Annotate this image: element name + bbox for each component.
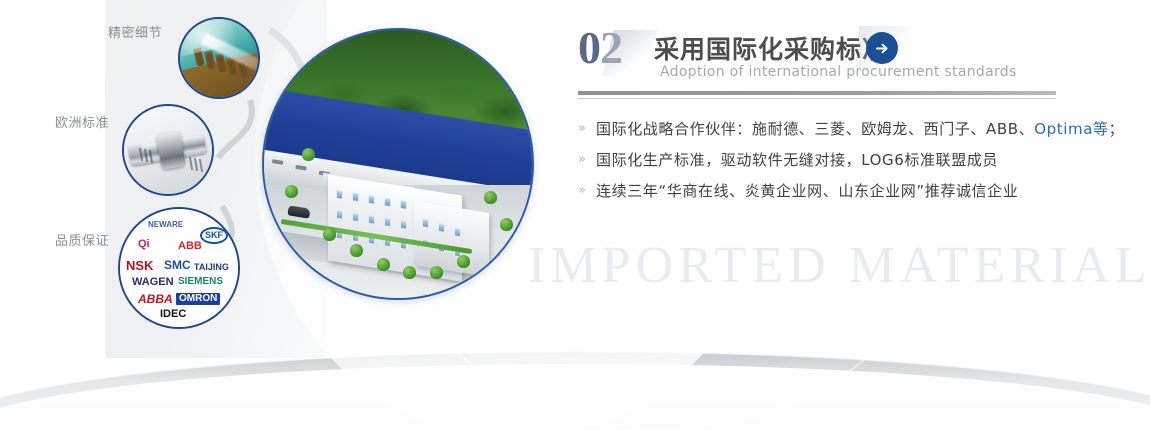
brand-logo-qi: Qi bbox=[138, 239, 150, 250]
section-header: 02 采用国际化采购标准 Adoption of international p… bbox=[578, 24, 1098, 88]
imported-material-watermark: IMPORTED MATERIAL bbox=[528, 236, 1150, 295]
bullet-text: 连续三年“华商在线、炎黄企业网、山东企业网”推荐诚信企业 bbox=[596, 181, 1018, 201]
brand-logo-abb: ABB bbox=[178, 241, 202, 252]
bullet-text-main: 连续三年“华商在线、炎黄企业网、山东企业网”推荐诚信企业 bbox=[596, 182, 1018, 200]
tree bbox=[430, 266, 443, 279]
tree bbox=[377, 258, 390, 271]
swoosh-shape-inner bbox=[0, 364, 1150, 430]
section-divider bbox=[578, 91, 1056, 99]
bullet-text-main: 国际化生产标准，驱动软件无缝对接，LOG6标准联盟成员 bbox=[596, 151, 998, 169]
brand-logo-omron: OMRON bbox=[176, 293, 220, 305]
precision-detail-bubble bbox=[178, 17, 260, 99]
arrow-right-icon[interactable] bbox=[866, 32, 898, 64]
section-content: 02 采用国际化采购标准 Adoption of international p… bbox=[578, 24, 1098, 212]
bullet-chevron-icon: » bbox=[578, 119, 596, 139]
swoosh-shape-outer bbox=[0, 352, 1150, 430]
tree bbox=[500, 218, 513, 231]
european-standard-bubble bbox=[122, 104, 214, 196]
bullet-item: »国际化战略合作伙伴：施耐德、三菱、欧姆龙、西门子、ABB、Optima等； bbox=[578, 119, 1098, 139]
quality-assurance-bubble: NEWARESKFQiABBNSKSMCTAIJINGWAGENSIEMENSA… bbox=[118, 207, 240, 329]
bullet-item: »国际化生产标准，驱动软件无缝对接，LOG6标准联盟成员 bbox=[578, 150, 1098, 170]
tree bbox=[484, 191, 497, 204]
tree bbox=[350, 244, 363, 257]
brand-logo-nsk: NSK bbox=[126, 259, 153, 272]
promo-banner: 精密细节 欧洲标准 品质保证 NEWARESKFQiABBNSKSMCTAIJI… bbox=[0, 0, 1150, 430]
brand-logo-neware: NEWARE bbox=[148, 221, 183, 229]
tree bbox=[302, 148, 315, 161]
section-subtitle: Adoption of international procurement st… bbox=[660, 64, 1017, 80]
tree bbox=[403, 266, 416, 279]
tree bbox=[457, 255, 470, 268]
brand-logo-skf: SKF bbox=[200, 227, 228, 244]
bullet-text-main: 国际化战略合作伙伴：施耐德、三菱、欧姆龙、西门子、ABB、 bbox=[596, 120, 1034, 138]
brand-logo-siemens: SIEMENS bbox=[178, 277, 223, 287]
bullet-chevron-icon: » bbox=[578, 150, 596, 170]
tree bbox=[323, 228, 336, 241]
bullet-text: 国际化战略合作伙伴：施耐德、三菱、欧姆龙、西门子、ABB、Optima等； bbox=[596, 119, 1124, 139]
feature-bullet-list: »国际化战略合作伙伴：施耐德、三菱、欧姆龙、西门子、ABB、Optima等；»国… bbox=[578, 119, 1098, 201]
section-title: 采用国际化采购标准 bbox=[654, 30, 888, 66]
bullet-item: »连续三年“华商在线、炎黄企业网、山东企业网”推荐诚信企业 bbox=[578, 181, 1098, 201]
brand-logo-wagen: WAGEN bbox=[132, 277, 174, 288]
bullet-chevron-icon: » bbox=[578, 181, 596, 201]
label-european-standard: 欧洲标准 bbox=[55, 112, 109, 131]
brand-logo-smc: SMC bbox=[164, 259, 191, 271]
section-number-second: 2 bbox=[600, 22, 622, 73]
section-number-first: 0 bbox=[578, 22, 600, 73]
bullet-text-tail: ； bbox=[1109, 120, 1125, 138]
brand-logo-taijing: TAIJING bbox=[194, 263, 229, 272]
section-number: 02 bbox=[578, 25, 622, 71]
label-precision-detail: 精密细节 bbox=[108, 22, 162, 41]
label-quality-assurance: 品质保证 bbox=[55, 230, 109, 249]
divider-thick-line bbox=[578, 91, 1056, 95]
divider-thin-line bbox=[578, 98, 1056, 99]
factory-aerial-photo bbox=[262, 28, 534, 300]
brand-logo-abba: ABBA bbox=[138, 293, 173, 305]
bullet-text: 国际化生产标准，驱动软件无缝对接，LOG6标准联盟成员 bbox=[596, 150, 998, 170]
bullet-text-highlight[interactable]: Optima等 bbox=[1034, 120, 1108, 138]
brand-logo-idec: IDEC bbox=[160, 309, 186, 320]
office-building-annex bbox=[414, 201, 489, 277]
